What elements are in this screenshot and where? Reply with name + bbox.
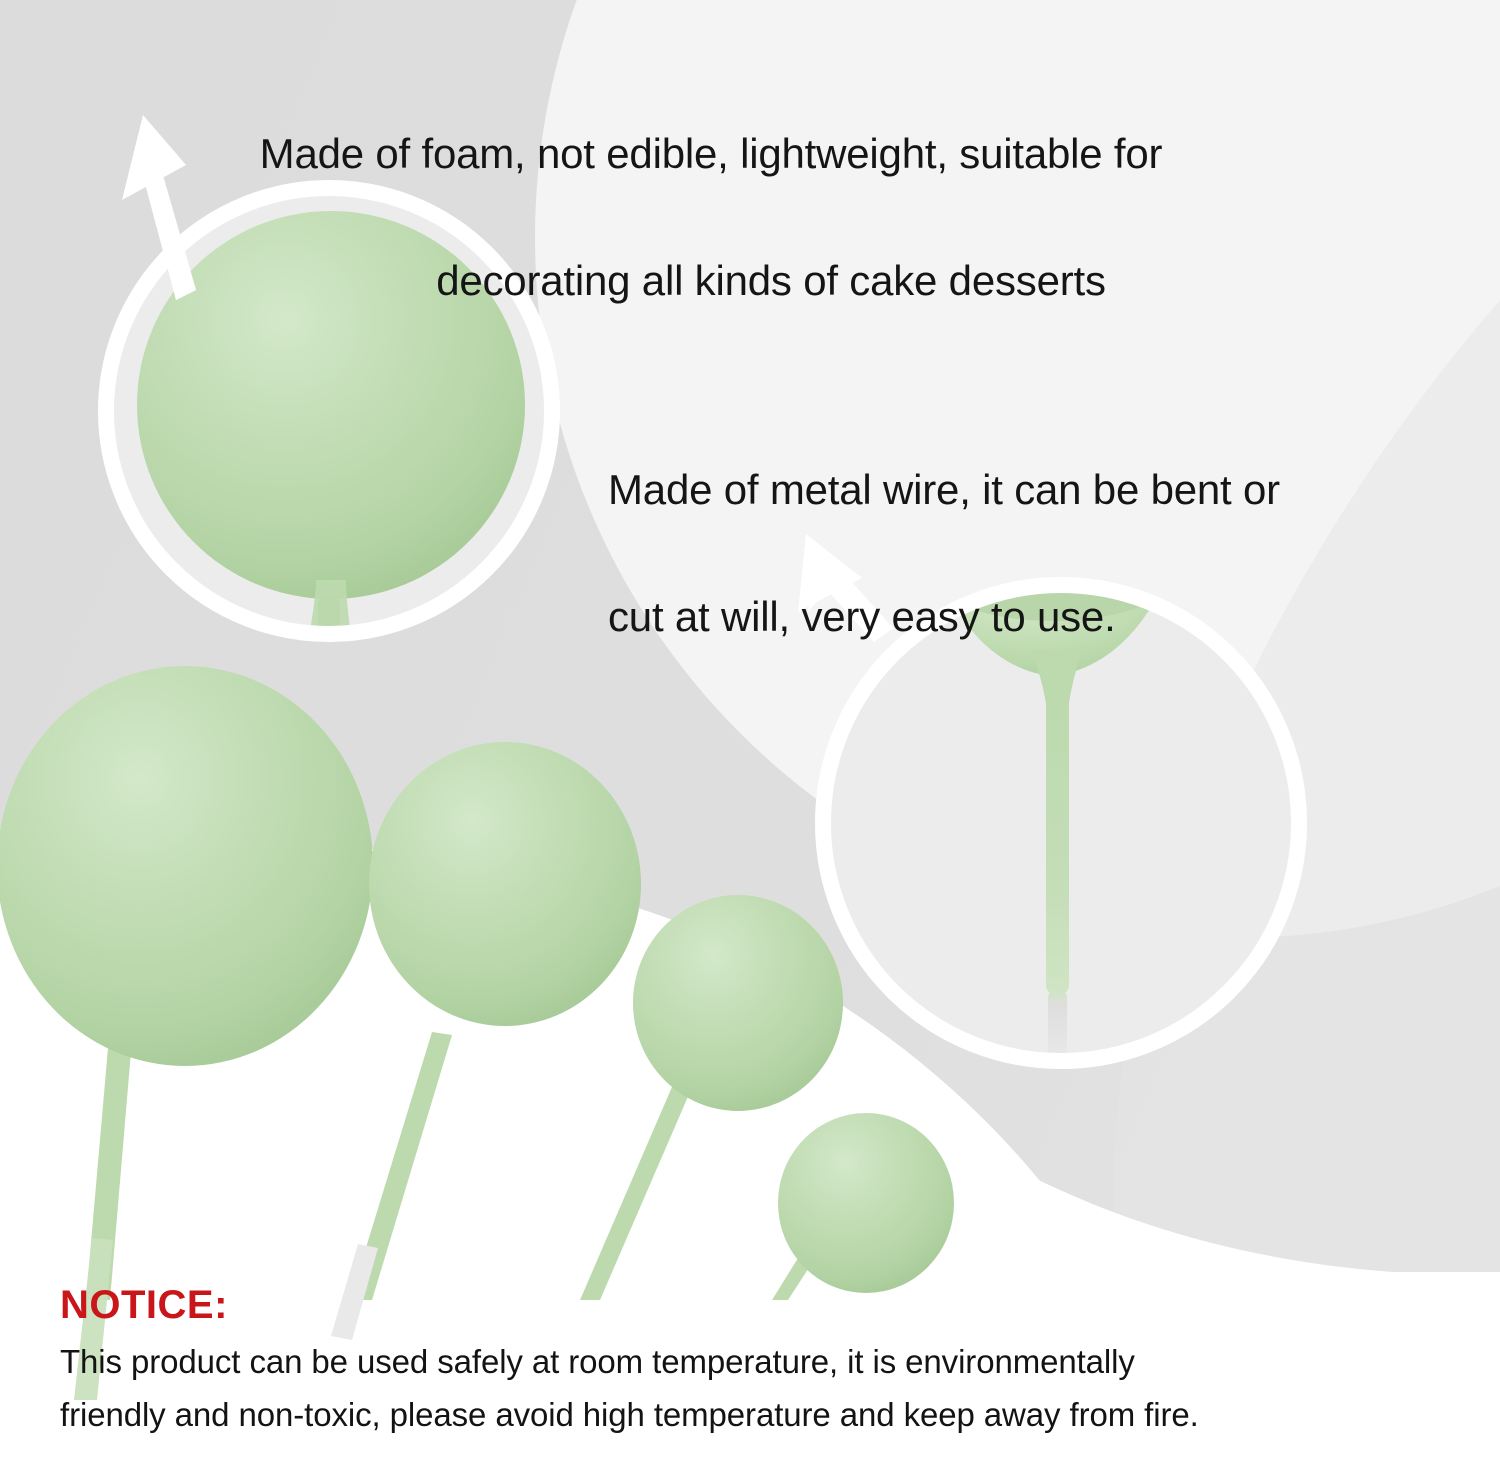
- notice-line2: friendly and non-toxic, please avoid hig…: [60, 1388, 1460, 1441]
- callout-foam-line2: decorating all kinds of cake desserts: [116, 249, 1306, 313]
- callout-wire-line2: cut at will, very easy to use.: [608, 585, 1488, 649]
- product-infographic: Made of foam, not edible, lightweight, s…: [0, 0, 1500, 1458]
- callout-wire-text: Made of metal wire, it can be bent or cu…: [608, 394, 1488, 713]
- callout-foam-line1: Made of foam, not edible, lightweight, s…: [116, 122, 1306, 186]
- notice-title: NOTICE:: [60, 1283, 1460, 1327]
- notice-line1: This product can be used safely at room …: [60, 1335, 1460, 1388]
- callout-wire-line1: Made of metal wire, it can be bent or: [608, 458, 1488, 522]
- callout-foam-text: Made of foam, not edible, lightweight, s…: [116, 58, 1306, 377]
- notice-block: NOTICE: This product can be used safely …: [60, 1283, 1460, 1442]
